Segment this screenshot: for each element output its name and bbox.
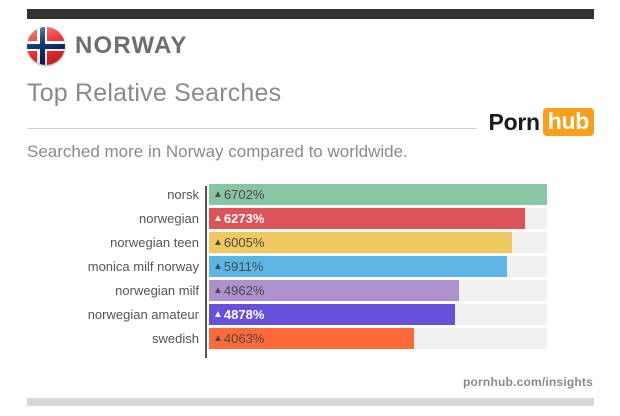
infographic-page: NORWAY Top Relative Searches Porn hub Se… [0, 0, 620, 416]
chart-row: norwegian teen▲6005% [27, 232, 594, 253]
bar-category-label: monica milf norway [27, 256, 207, 277]
country-name: NORWAY [75, 34, 188, 58]
triangle-up-icon: ▲ [213, 184, 223, 205]
bar-value-label: ▲4962% [213, 280, 264, 301]
bar-track: ▲6273% [209, 208, 547, 229]
bar-track: ▲5911% [209, 256, 547, 277]
bar-value-label: ▲5911% [213, 256, 263, 277]
bar-category-label: norwegian amateur [27, 304, 207, 325]
pornhub-logo: Porn hub [489, 108, 594, 136]
footer-url: pornhub.com/insights [463, 375, 593, 389]
bar-value-label: ▲4063% [213, 328, 264, 349]
bar-value-text: 5911% [224, 259, 264, 274]
triangle-up-icon: ▲ [213, 256, 223, 277]
bar-track: ▲6702% [209, 184, 547, 205]
bar-track: ▲4063% [209, 328, 547, 349]
bar-value-label: ▲6005% [213, 232, 264, 253]
triangle-up-icon: ▲ [213, 280, 223, 301]
bar-value-label: ▲6273% [213, 208, 264, 229]
bar-value-label: ▲6702% [213, 184, 264, 205]
chart-row: norwegian amateur▲4878% [27, 304, 594, 325]
bar-track: ▲4962% [209, 280, 547, 301]
chart-row: norwegian▲6273% [27, 208, 594, 229]
bar-track: ▲4878% [209, 304, 547, 325]
chart-row: swedish▲4063% [27, 328, 594, 349]
bar-value-label: ▲4878% [213, 304, 264, 325]
logo-text-hub: hub [543, 108, 594, 136]
bar-category-label: norwegian [27, 208, 207, 229]
logo-text-porn: Porn [489, 111, 540, 134]
bar-value-text: 6702% [224, 187, 264, 202]
bar-value-text: 4878% [224, 307, 264, 322]
triangle-up-icon: ▲ [213, 304, 223, 325]
country-header: NORWAY [27, 27, 188, 65]
bottom-rule [27, 398, 594, 406]
bar-value-text: 6273% [224, 211, 264, 226]
top-rule [27, 9, 594, 19]
triangle-up-icon: ▲ [213, 208, 223, 229]
chart-row: norsk▲6702% [27, 184, 594, 205]
bar-category-label: norwegian teen [27, 232, 207, 253]
page-title: Top Relative Searches [27, 80, 281, 108]
bar-category-label: norsk [27, 184, 207, 205]
bar-chart: norsk▲6702%norwegian▲6273%norwegian teen… [27, 184, 594, 360]
title-divider [27, 128, 477, 129]
chart-rows: norsk▲6702%norwegian▲6273%norwegian teen… [27, 184, 594, 349]
bar-value-text: 6005% [224, 235, 264, 250]
triangle-up-icon: ▲ [213, 232, 223, 253]
flag-gloss-overlay [27, 27, 65, 65]
bar-category-label: norwegian milf [27, 280, 207, 301]
norway-flag-icon [27, 27, 65, 65]
chart-row: norwegian milf▲4962% [27, 280, 594, 301]
chart-row: monica milf norway▲5911% [27, 256, 594, 277]
triangle-up-icon: ▲ [213, 328, 223, 349]
bar-category-label: swedish [27, 328, 207, 349]
bar-track: ▲6005% [209, 232, 547, 253]
bar-value-text: 4962% [224, 283, 264, 298]
bar-value-text: 4063% [224, 331, 264, 346]
page-subtitle: Searched more in Norway compared to worl… [27, 142, 408, 162]
